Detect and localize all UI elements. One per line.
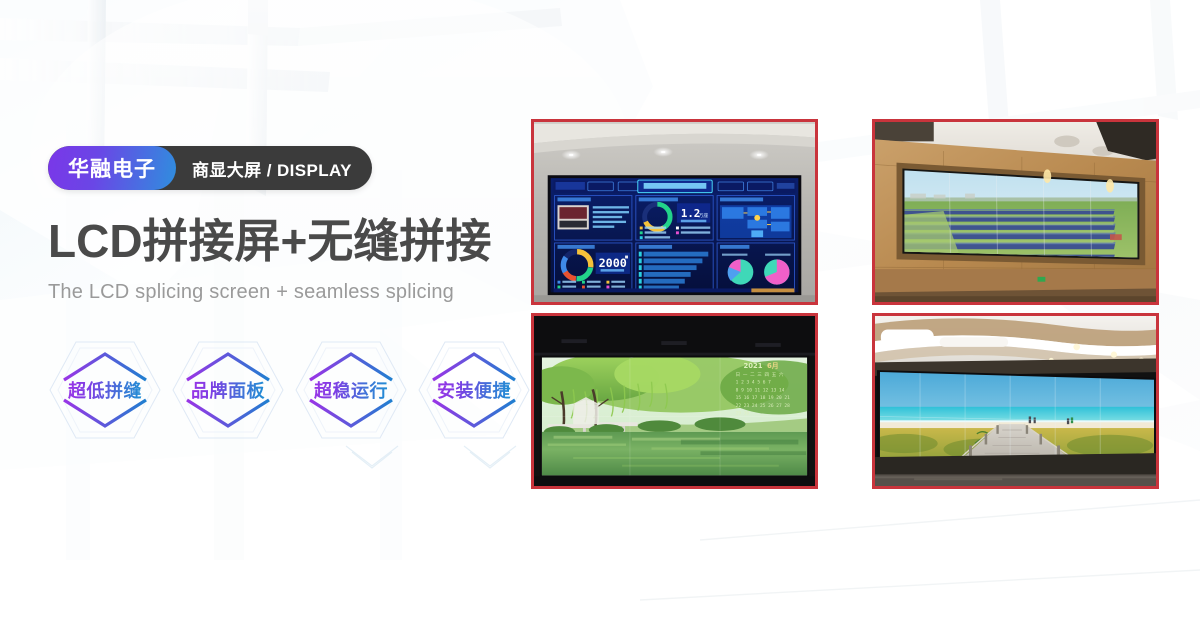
svg-text:29 30: 29 30 — [736, 411, 750, 417]
feature-label: 安装便捷 — [437, 377, 511, 403]
brand-name: 华融电子 — [48, 146, 176, 190]
svg-text:8 9 10 11 12 13 14: 8 9 10 11 12 13 14 — [736, 387, 785, 393]
photo-solar-farm-video-wall[interactable] — [872, 119, 1159, 305]
feature-label: 超低拼缝 — [68, 377, 142, 403]
brand-category: 商显大屏 / DISPLAY — [176, 146, 372, 190]
feature-badge-easy-installation[interactable]: 安装便捷 — [415, 336, 533, 444]
feature-label: 品牌面板 — [191, 377, 265, 403]
feature-list: 超低拼缝 品牌面板 — [46, 336, 533, 444]
page-title: LCD拼接屏+无缝拼接 — [48, 216, 518, 267]
feature-badge-ultra-stable-operation[interactable]: 超稳运行 — [292, 336, 410, 444]
promo-banner: 华融电子 商显大屏 / DISPLAY LCD拼接屏+无缝拼接 The LCD … — [0, 0, 1200, 640]
svg-text:22 23 24 25 26 27 28: 22 23 24 25 26 27 28 — [736, 403, 790, 409]
svg-text:1 2 3 4 5 6 7: 1 2 3 4 5 6 7 — [736, 380, 772, 386]
headline-block: 华融电子 商显大屏 / DISPLAY LCD拼接屏+无缝拼接 The LCD … — [48, 146, 518, 304]
svg-text:2000: 2000 — [599, 256, 627, 270]
feature-badge-ultra-low-seam[interactable]: 超低拼缝 — [46, 336, 164, 444]
svg-text:日 一 二 三 四 五 六: 日 一 二 三 四 五 六 — [736, 371, 784, 378]
svg-text:6月: 6月 — [767, 362, 779, 370]
photo-beach-boardwalk-video-wall[interactable] — [872, 313, 1159, 489]
page-subtitle: The LCD splicing screen + seamless splic… — [48, 281, 518, 304]
svg-text:15 16 17 18 19 20 21: 15 16 17 18 19 20 21 — [736, 395, 790, 401]
svg-text:万座: 万座 — [698, 212, 708, 219]
photo-lakeside-video-wall[interactable]: 2021 6月 日 一 二 三 四 五 六 1 2 3 4 5 6 7 8 9 … — [531, 313, 818, 489]
feature-label: 超稳运行 — [314, 377, 388, 403]
svg-text:1.2: 1.2 — [681, 207, 700, 220]
svg-text:2021: 2021 — [744, 362, 763, 370]
brand-badge: 华融电子 商显大屏 / DISPLAY — [48, 146, 372, 190]
feature-badge-brand-panel[interactable]: 品牌面板 — [169, 336, 287, 444]
photo-dashboard-video-wall[interactable]: 1.2 万座 — [531, 119, 818, 305]
